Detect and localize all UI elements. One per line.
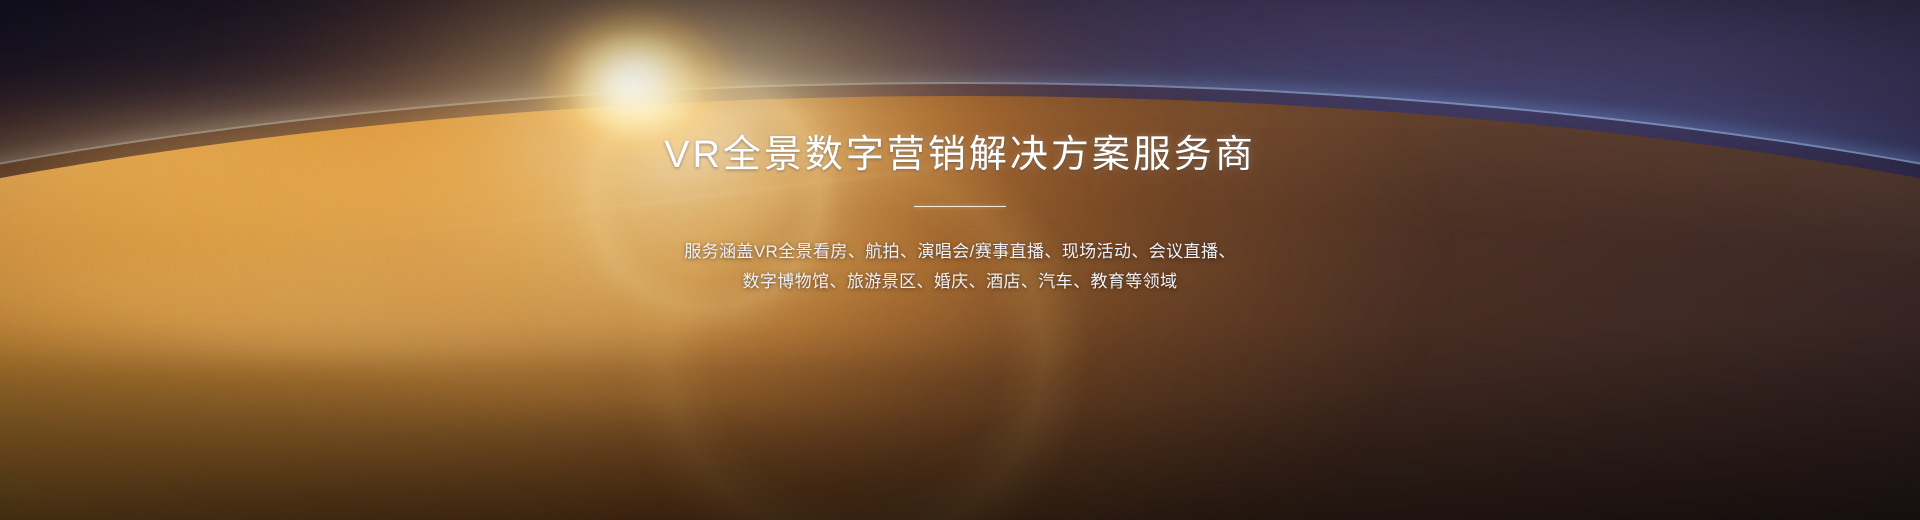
hero-banner: VR全景数字营销解决方案服务商 服务涵盖VR全景看房、航拍、演唱会/赛事直播、现… bbox=[0, 0, 1920, 520]
banner-content: VR全景数字营销解决方案服务商 服务涵盖VR全景看房、航拍、演唱会/赛事直播、现… bbox=[0, 0, 1920, 520]
subheadline-line-1: 服务涵盖VR全景看房、航拍、演唱会/赛事直播、现场活动、会议直播、 bbox=[684, 237, 1236, 267]
banner-headline: VR全景数字营销解决方案服务商 bbox=[664, 132, 1256, 180]
headline-divider bbox=[914, 206, 1006, 207]
subheadline-line-2: 数字博物馆、旅游景区、婚庆、酒店、汽车、教育等领域 bbox=[684, 267, 1236, 297]
banner-subheadline: 服务涵盖VR全景看房、航拍、演唱会/赛事直播、现场活动、会议直播、 数字博物馆、… bbox=[684, 237, 1236, 297]
